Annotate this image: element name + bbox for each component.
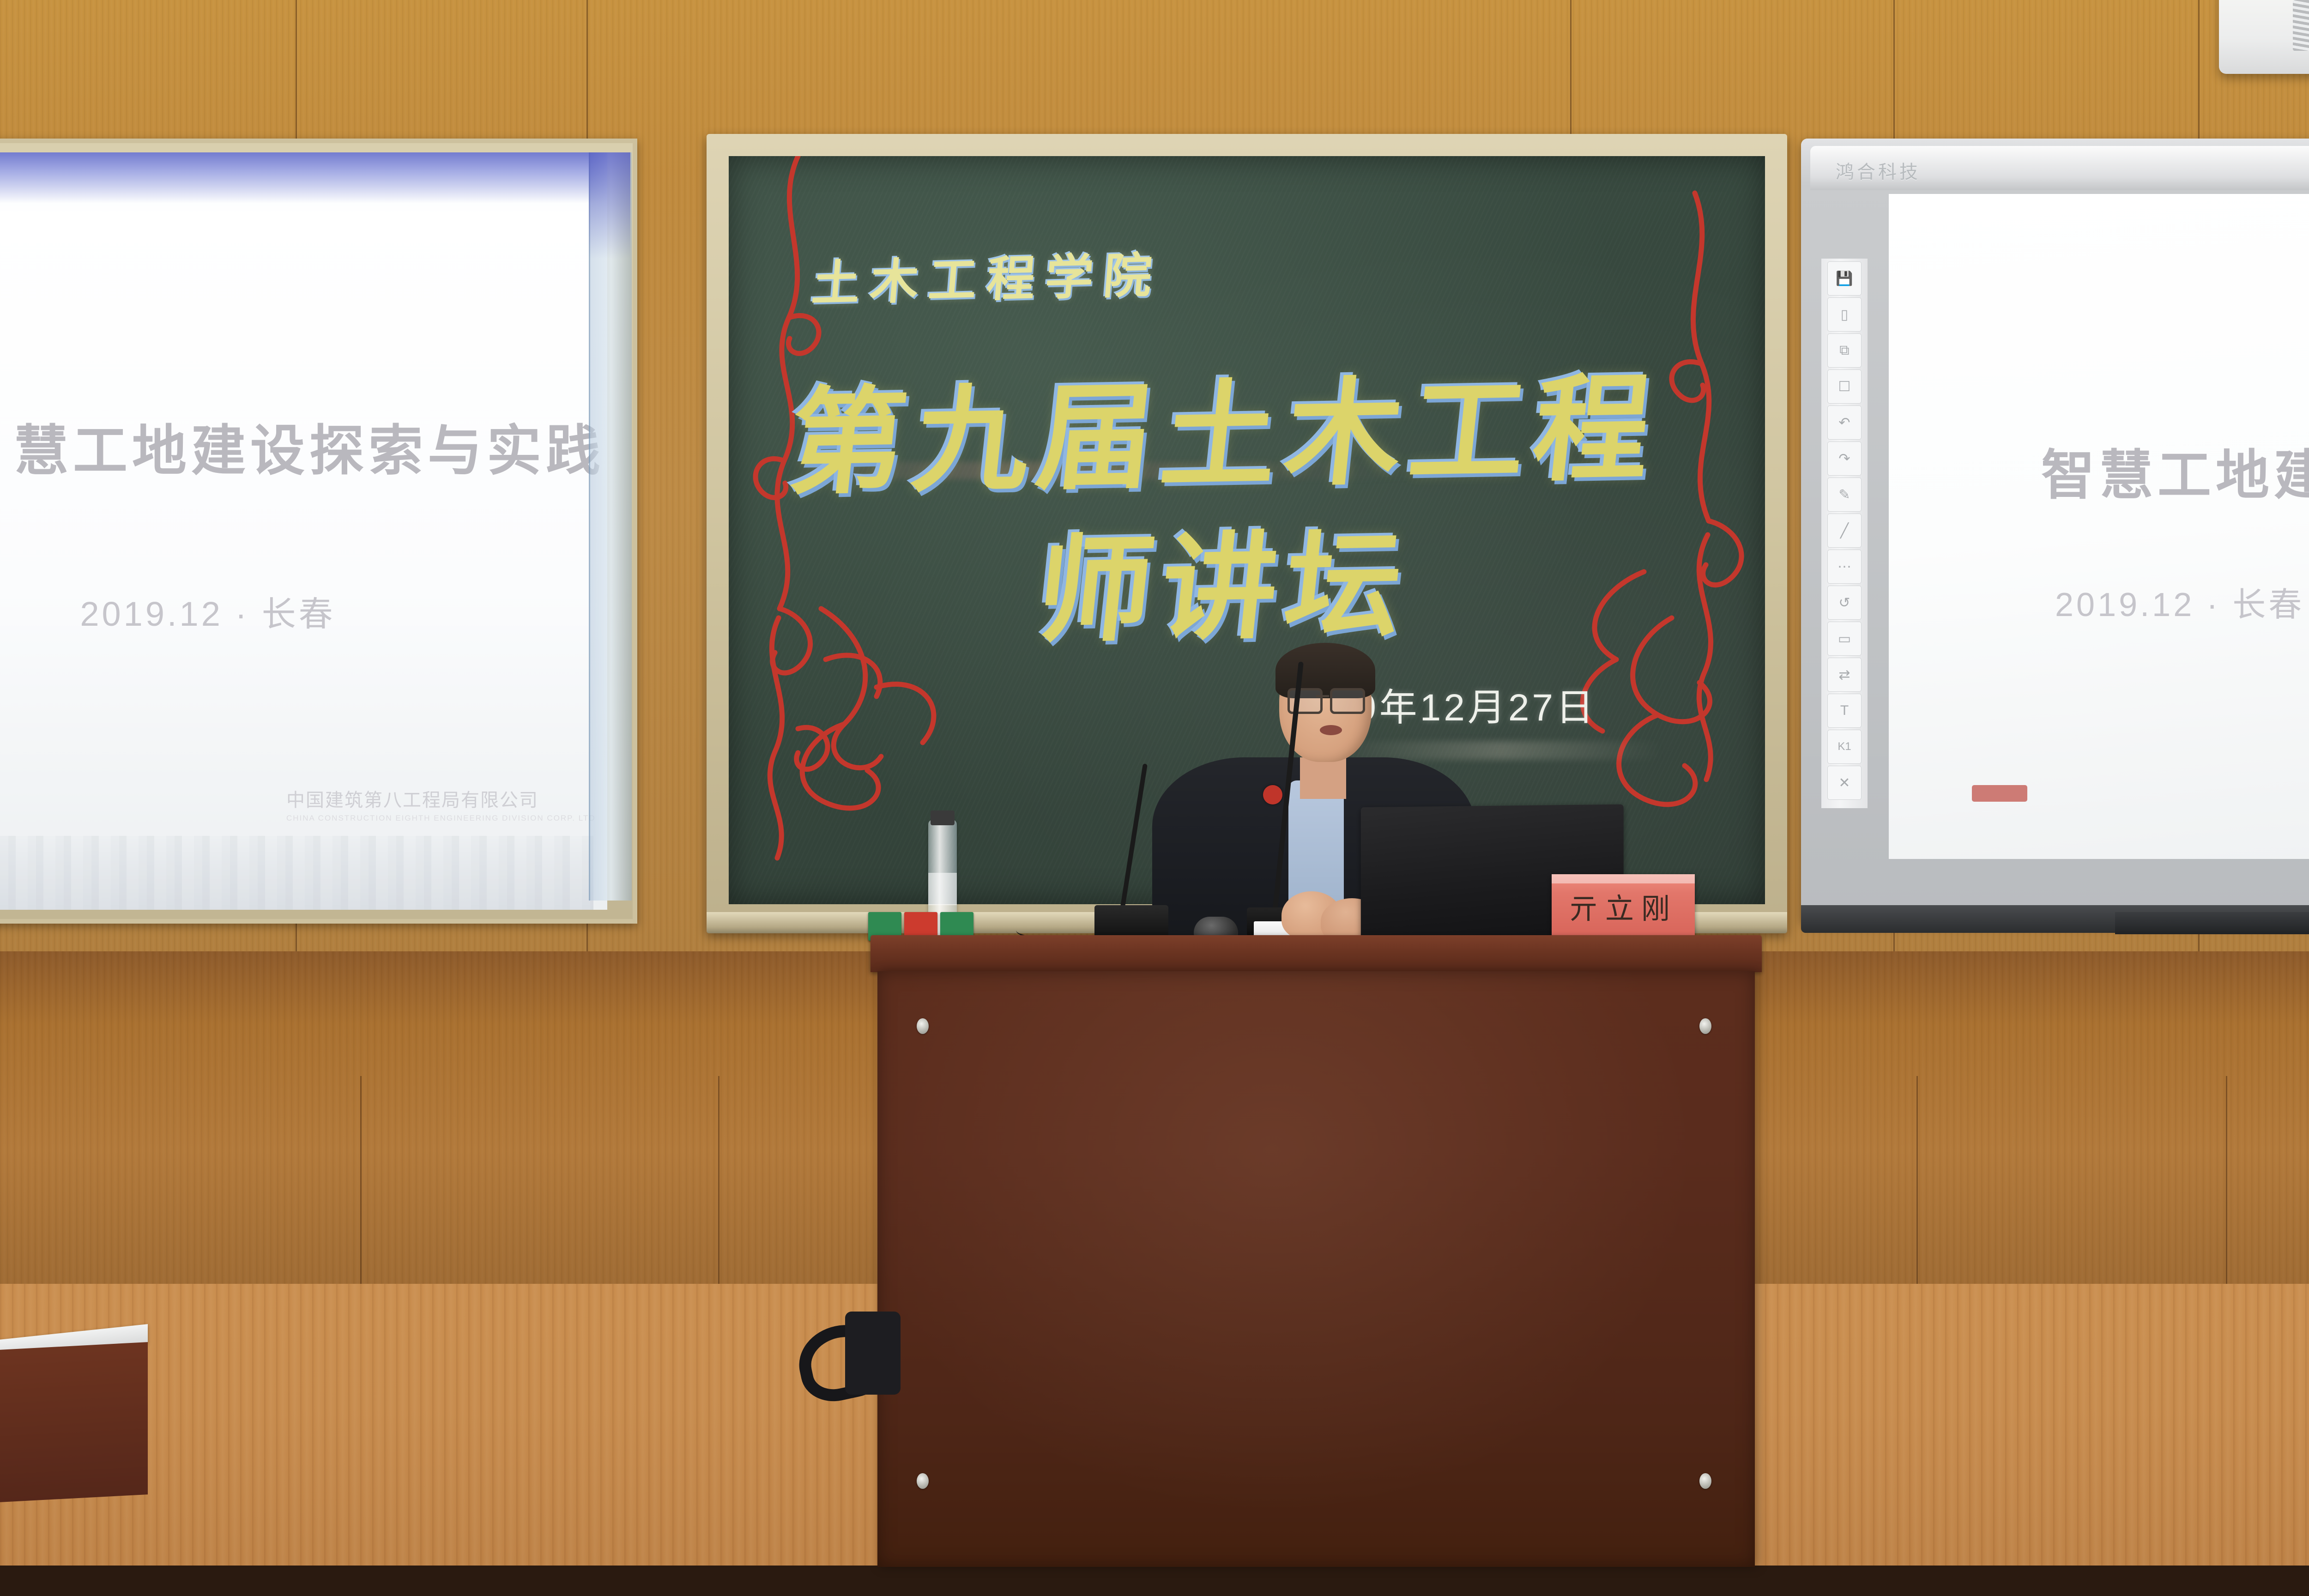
podium-screw <box>1699 1018 1711 1034</box>
podium-screw <box>1699 1473 1711 1489</box>
chalkboard-date-text: 9年12月27日 <box>1355 677 1596 731</box>
left-slide-footer-cn: 中国建筑第八工程局有限公司 <box>286 785 610 812</box>
eyeglasses-bridge <box>1316 695 1329 697</box>
sliding-glass-panel-edge[interactable] <box>589 152 632 901</box>
smartboard-bottom-bar-extension <box>2115 912 2309 934</box>
eraser-tray-icon[interactable]: ▯ <box>1827 297 1862 332</box>
podium-front-panel <box>877 971 1755 1567</box>
slide-red-vehicle <box>1972 785 2027 802</box>
microphone-red-windscreen <box>1263 785 1282 804</box>
page-stack-icon[interactable]: ⧉ <box>1827 333 1862 368</box>
redo-arrows-icon[interactable]: ⇄ <box>1827 658 1862 692</box>
microphone-base <box>1094 905 1168 937</box>
eyeglasses-lens-right <box>1330 688 1365 714</box>
k1-button-icon[interactable]: K1 <box>1827 730 1862 764</box>
eraser-icon[interactable]: ▭ <box>1827 622 1862 656</box>
chalkboard-headline-line-1: 第九届土木工程 <box>782 334 1668 517</box>
wall-seam-lower <box>360 1076 362 1284</box>
presenter-neck <box>1300 757 1346 799</box>
close-icon[interactable]: ✕ <box>1827 766 1862 800</box>
name-placard-text: 亓立刚 <box>1569 885 1677 927</box>
smartboard-brand-label: 鸿合科技 <box>1836 157 1921 184</box>
chalk-vine-decoration-right <box>1478 156 1764 904</box>
water-bottle-cap <box>931 810 955 825</box>
wall-seam-lower <box>718 1076 719 1284</box>
text-tool-icon[interactable]: T <box>1827 694 1862 728</box>
wall-seam-lower <box>2226 1076 2227 1284</box>
name-placard: 亓立刚 <box>1552 874 1695 938</box>
podium-screw <box>917 1018 929 1034</box>
student-desk-body <box>0 1342 148 1503</box>
podium-screw <box>917 1473 929 1489</box>
highlighter-icon[interactable]: ╱ <box>1827 514 1862 548</box>
right-slide-subtitle: 2019.12 · 长春 <box>2055 577 2309 626</box>
eyeglasses-lens-left <box>1287 688 1323 714</box>
air-conditioner-vent-icon <box>2293 0 2309 51</box>
left-slide-title: 慧工地建设探索与实践 <box>0 406 605 485</box>
chalkboard-erased-smudge <box>1339 741 1662 760</box>
wall-seam-lower <box>1916 1076 1918 1284</box>
right-projection-screen <box>1889 194 2309 859</box>
undo-page-icon[interactable]: ↶ <box>1827 405 1862 440</box>
smartboard-toolbar[interactable]: 💾 ▯ ⧉ ☐ ↶ ↷ ✎ ╱ ⋯ ↺ ▭ ⇄ T K1 ✕ <box>1821 259 1868 808</box>
floor-front-edge <box>0 1566 2309 1596</box>
new-page-icon[interactable]: ☐ <box>1827 369 1862 404</box>
right-slide-title: 智慧工地建设探索 <box>2041 432 2309 509</box>
water-bottle-label <box>928 873 957 905</box>
left-slide-subtitle: 2019.12 · 长春 <box>0 586 416 636</box>
save-icon[interactable]: 💾 <box>1827 261 1862 296</box>
bag <box>845 1312 901 1395</box>
name-placard-gloss <box>1552 874 1695 883</box>
projector-blue-glow <box>0 152 607 203</box>
redo-page-icon[interactable]: ↷ <box>1827 441 1862 476</box>
chalkboard-headline-line-2: 师讲坛 <box>1030 491 1420 665</box>
sliding-panel-blue-reflection <box>589 152 630 259</box>
slide-city-photo <box>0 836 593 910</box>
podium-desktop-surface <box>870 935 1762 972</box>
chalkboard-organization-text: 土木工程学院 <box>810 236 1165 314</box>
classroom-scene: 慧工地建设探索与实践 2019.12 · 长春 中国建筑第八工程局有限公司 CH… <box>0 0 2309 1596</box>
keyboard-icon[interactable]: ⋯ <box>1827 550 1862 584</box>
presenter-mouth <box>1320 725 1342 735</box>
undo-icon[interactable]: ↺ <box>1827 586 1862 620</box>
pen-select-icon[interactable]: ✎ <box>1827 478 1862 512</box>
